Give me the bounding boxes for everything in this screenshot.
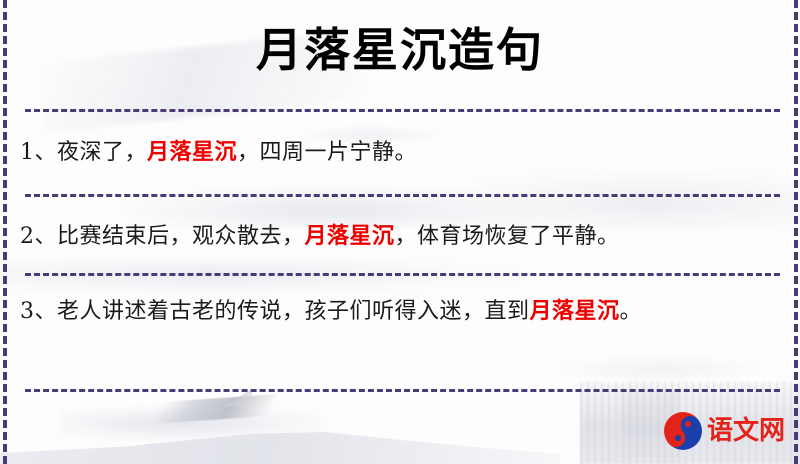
example-sentence-3: 3、老人讲述着古老的传说，孩子们听得入迷，直到月落星沉。: [20, 292, 776, 331]
dashed-divider-3: [25, 273, 780, 276]
sentence-1-number: 1、: [20, 140, 57, 165]
sentence-1-idiom: 月落星沉: [147, 139, 237, 165]
worksheet-page: 月落星沉造句 1、夜深了，月落星沉，四周一片宁静。 2、比赛结束后，观众散去，月…: [0, 0, 800, 464]
content-area: 月落星沉造句 1、夜深了，月落星沉，四周一片宁静。 2、比赛结束后，观众散去，月…: [0, 0, 800, 464]
sentence-2-number: 2、: [20, 224, 57, 249]
site-watermark: 语文网: [664, 412, 785, 450]
logo-ring: [664, 412, 702, 450]
dashed-border-left: [3, 0, 7, 464]
sentence-3-number: 3、: [20, 299, 57, 324]
sentence-3-idiom: 月落星沉: [530, 298, 620, 324]
example-sentence-2: 2、比赛结束后，观众散去，月落星沉，体育场恢复了平静。: [20, 217, 776, 256]
dashed-divider-2: [25, 194, 780, 197]
sentence-2-idiom: 月落星沉: [305, 223, 395, 249]
sentence-2-text-after: ，体育场恢复了平静。: [395, 224, 620, 249]
page-title: 月落星沉造句: [0, 22, 800, 80]
watermark-text: 语文网: [707, 418, 785, 444]
sentence-1-text-before: 夜深了，: [57, 140, 147, 165]
dashed-border-right: [794, 0, 798, 464]
dashed-divider-4: [25, 389, 780, 392]
dashed-divider-1: [25, 109, 780, 112]
logo-dot-lower: [675, 435, 681, 441]
sentence-2-text-before: 比赛结束后，观众散去，: [57, 224, 305, 249]
sentence-1-text-after: ，四周一片宁静。: [237, 140, 417, 165]
yuwen-logo-icon: [664, 412, 702, 450]
example-sentence-1: 1、夜深了，月落星沉，四周一片宁静。: [20, 133, 776, 172]
logo-dot-upper: [685, 421, 691, 427]
sentence-3-text-before: 老人讲述着古老的传说，孩子们听得入迷，直到: [57, 299, 530, 324]
sentence-3-text-after: 。: [620, 299, 643, 324]
